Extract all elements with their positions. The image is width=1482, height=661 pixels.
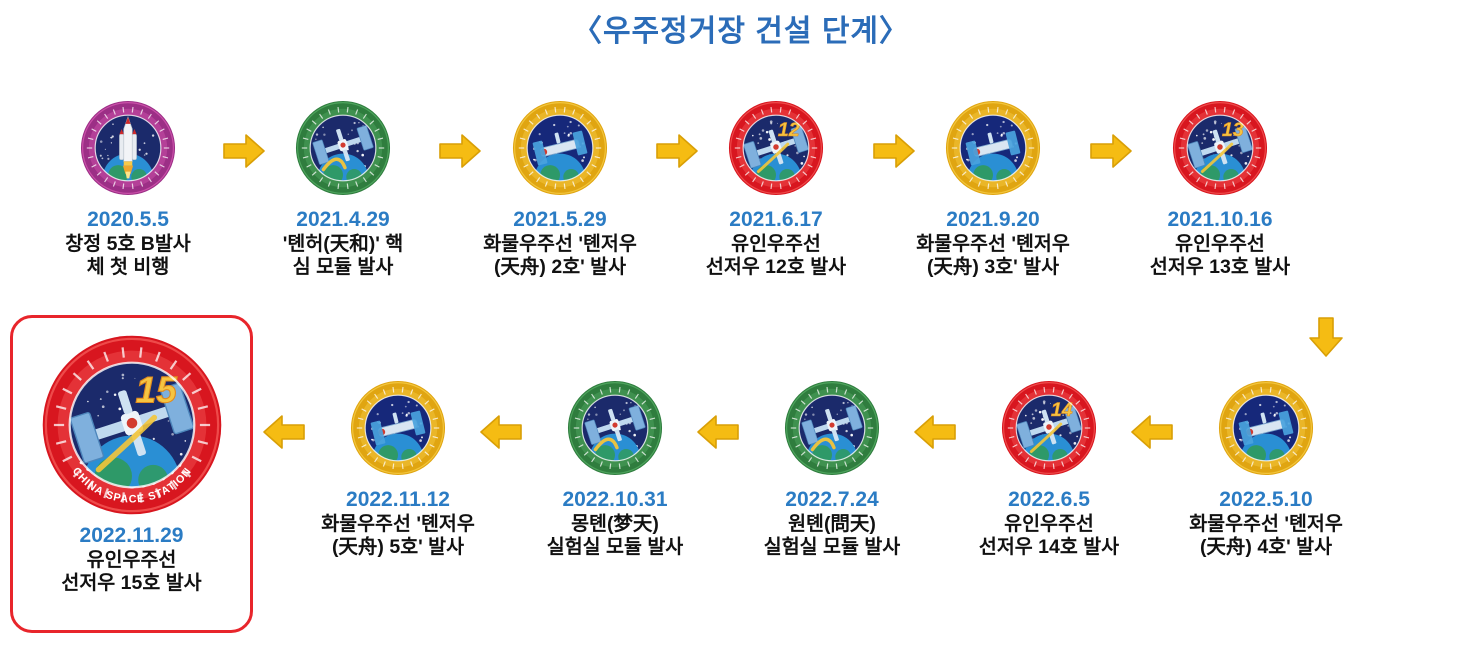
arrow-step11-to-step12-icon xyxy=(262,412,306,457)
mission-patch-tianzhou-3 xyxy=(885,92,1101,204)
step-description: 유인우주선 선저우 15호 발사 xyxy=(16,549,247,595)
step-description: 원톈(問天) 실험실 모듈 발사 xyxy=(724,513,940,559)
arrow-step10-to-step11-icon xyxy=(479,412,523,457)
svg-text:15: 15 xyxy=(135,369,178,411)
step-date: 2021.10.16 xyxy=(1112,208,1328,232)
timeline-step-8[interactable]: 14 2022.6.5유인우주선 선저우 14호 발사 xyxy=(941,372,1157,559)
step-date: 2022.10.31 xyxy=(507,488,723,512)
step-description: 유인우주선 선저우 13호 발사 xyxy=(1112,233,1328,279)
step-description: '톈허(天和)' 핵 심 모듈 발사 xyxy=(235,233,451,279)
arrow-step6-to-step7-icon xyxy=(1306,316,1346,363)
timeline-step-4[interactable]: 12 2021.6.17유인우주선 선저우 12호 발사 xyxy=(668,92,884,279)
mission-patch-tianzhou-4 xyxy=(1158,372,1374,484)
arrow-step5-to-step6-icon xyxy=(1089,131,1133,176)
arrow-step4-to-step5-icon xyxy=(872,131,916,176)
page-title: 〈우주정거장 건설 단계〉 xyxy=(0,6,1482,50)
step-date: 2021.6.17 xyxy=(668,208,884,232)
step-date: 2021.5.29 xyxy=(452,208,668,232)
step-description: 화물우주선 '톈저우 (天舟) 3호' 발사 xyxy=(885,233,1101,279)
timeline-step-6[interactable]: 13 2021.10.16유인우주선 선저우 13호 발사 xyxy=(1112,92,1328,279)
timeline-step-9[interactable]: 2022.7.24원톈(問天) 실험실 모듈 발사 xyxy=(724,372,940,559)
step-date: 2021.9.20 xyxy=(885,208,1101,232)
mission-patch-shenzhou-12: 12 xyxy=(668,92,884,204)
arrow-step1-to-step2-icon xyxy=(222,131,266,176)
timeline-step-5[interactable]: 2021.9.20화물우주선 '톈저우 (天舟) 3호' 발사 xyxy=(885,92,1101,279)
mission-patch-long-march-5b xyxy=(20,92,236,204)
step-description: 유인우주선 선저우 12호 발사 xyxy=(668,233,884,279)
step-date: 2021.4.29 xyxy=(235,208,451,232)
arrow-step9-to-step10-icon xyxy=(696,412,740,457)
timeline-step-10[interactable]: 2022.10.31몽톈(梦天) 실험실 모듈 발사 xyxy=(507,372,723,559)
mission-patch-tianzhou-5 xyxy=(290,372,506,484)
arrow-step7-to-step8-icon xyxy=(1130,412,1174,457)
timeline-step-11[interactable]: 2022.11.12화물우주선 '톈저우 (天舟) 5호' 발사 xyxy=(290,372,506,559)
mission-patch-tianzhou-2 xyxy=(452,92,668,204)
step-description: 화물우주선 '톈저우 (天舟) 2호' 발사 xyxy=(452,233,668,279)
step-date: 2022.7.24 xyxy=(724,488,940,512)
timeline-step-2[interactable]: 2021.4.29'톈허(天和)' 핵 심 모듈 발사 xyxy=(235,92,451,279)
timeline-step-1[interactable]: 2020.5.5창정 5호 B발사 체 첫 비행 xyxy=(20,92,236,279)
mission-patch-shenzhou-13: 13 xyxy=(1112,92,1328,204)
timeline-step-7[interactable]: 2022.5.10화물우주선 '톈저우 (天舟) 4호' 발사 xyxy=(1158,372,1374,559)
timeline-step-3[interactable]: 2021.5.29화물우주선 '톈저우 (天舟) 2호' 발사 xyxy=(452,92,668,279)
arrow-step8-to-step9-icon xyxy=(913,412,957,457)
step-description: 몽톈(梦天) 실험실 모듈 발사 xyxy=(507,513,723,559)
mission-patch-tianhe-core-module xyxy=(235,92,451,204)
arrow-step2-to-step3-icon xyxy=(438,131,482,176)
step-date: 2022.11.29 xyxy=(16,524,247,548)
mission-patch-wentian-lab-module xyxy=(724,372,940,484)
step-description: 화물우주선 '톈저우 (天舟) 4호' 발사 xyxy=(1158,513,1374,559)
step-date: 2020.5.5 xyxy=(20,208,236,232)
step-date: 2022.11.12 xyxy=(290,488,506,512)
mission-patch-shenzhou-15: 15 CHINA SPACE STATION xyxy=(16,330,247,520)
step-date: 2022.5.10 xyxy=(1158,488,1374,512)
step-date: 2022.6.5 xyxy=(941,488,1157,512)
step-description: 창정 5호 B발사 체 첫 비행 xyxy=(20,233,236,279)
step-description: 유인우주선 선저우 14호 발사 xyxy=(941,513,1157,559)
timeline-step-12[interactable]: 15 CHINA SPACE STATION 2022.11.29유인우주선 선… xyxy=(16,330,247,595)
arrow-step3-to-step4-icon xyxy=(655,131,699,176)
step-description: 화물우주선 '톈저우 (天舟) 5호' 발사 xyxy=(290,513,506,559)
mission-patch-mengtian-lab-module xyxy=(507,372,723,484)
mission-patch-shenzhou-14: 14 xyxy=(941,372,1157,484)
